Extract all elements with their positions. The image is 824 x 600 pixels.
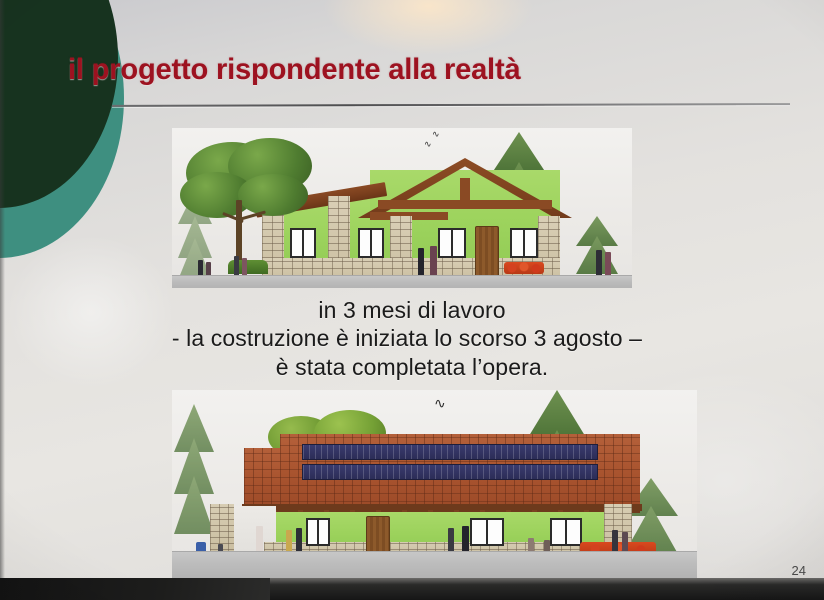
title-divider-rule: [112, 103, 790, 107]
bird-icon: ∿: [434, 396, 446, 410]
house-window: [438, 228, 466, 258]
solar-panel-array-row-1: [302, 444, 598, 460]
house-entrance-door: [475, 226, 499, 276]
bird-icon: ∿: [432, 130, 440, 139]
body-text-line-3: è stata completata l’opera.: [0, 353, 824, 381]
person-figure: [596, 250, 602, 276]
flower-bed: [504, 262, 544, 274]
screen-left-edge: [0, 0, 5, 600]
house-window: [358, 228, 384, 258]
person-figure: [605, 252, 611, 276]
house-gable-king-post: [460, 178, 470, 204]
person-figure: [198, 260, 203, 276]
building-window: [470, 518, 504, 546]
body-text-block: in 3 mesi di lavoro - la costruzione è i…: [0, 296, 824, 381]
person-figure: [234, 256, 239, 276]
render-ground-line: [172, 275, 632, 288]
projection-screen: il progetto rispondente alla realtà ∿ ∿: [0, 0, 824, 600]
person-figure: [418, 248, 424, 276]
house-window: [510, 228, 538, 258]
screen-bottom-bevel: [0, 578, 824, 600]
body-text-line-1: in 3 mesi di lavoro: [0, 296, 824, 324]
slide-page-number: 24: [792, 563, 806, 578]
person-figure: [430, 246, 437, 276]
body-text-line-2: - la costruzione è iniziata lo scorso 3 …: [0, 324, 819, 352]
person-figure: [242, 258, 247, 276]
solar-panel-array-row-2: [302, 464, 598, 480]
rendering-image-front-elevation: ∿ ∿: [172, 128, 632, 288]
building-window: [550, 518, 582, 546]
conifer-tree-left: [174, 404, 214, 532]
slide-title: il progetto rispondente alla realtà: [68, 54, 520, 86]
rendering-image-side-elevation: ∿: [172, 390, 697, 578]
render-ground-line: [172, 551, 697, 578]
broadleaf-tree-left: [180, 138, 316, 272]
building-window: [306, 518, 330, 546]
person-figure: [206, 262, 211, 276]
bird-icon: ∿: [424, 140, 432, 149]
